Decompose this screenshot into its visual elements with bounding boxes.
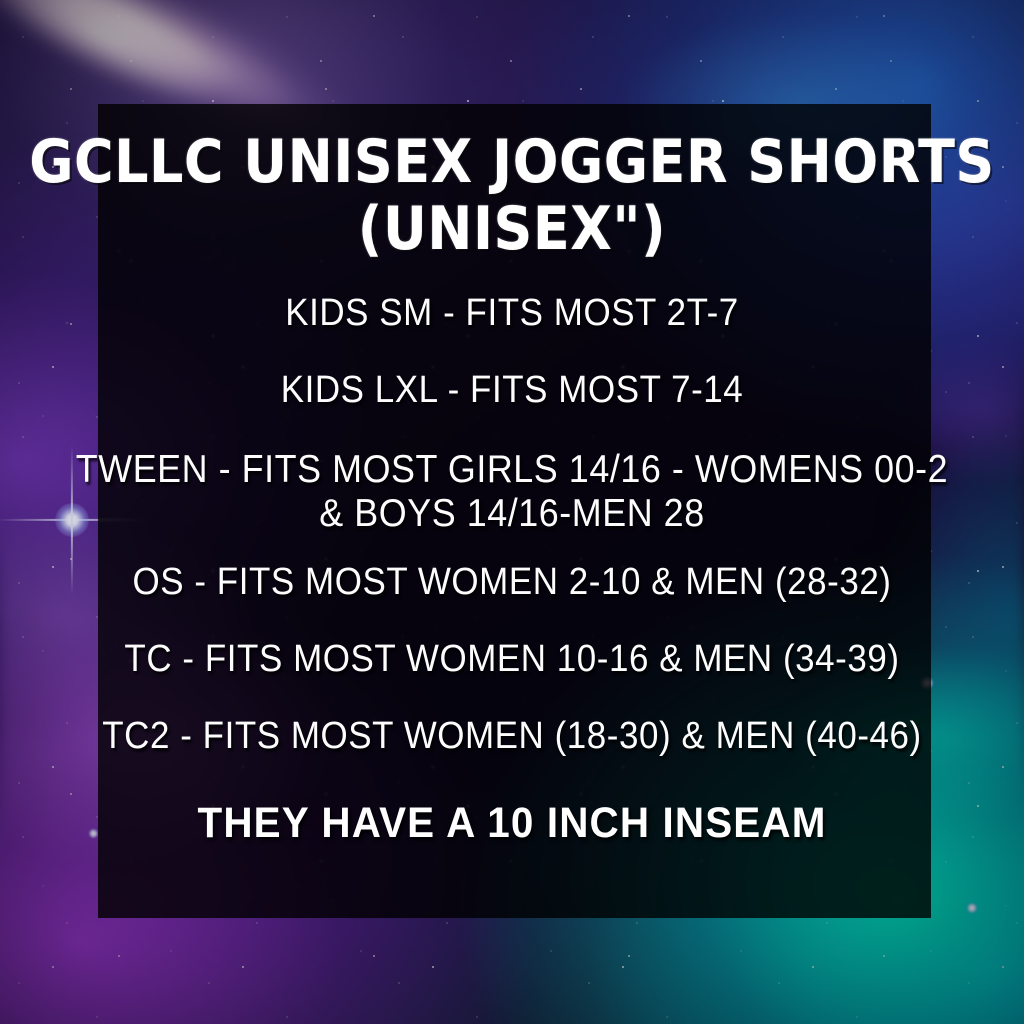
poster-content: GCLLC UNISEX JOGGER SHORTS (UNISEX") KID… [0,0,1024,1024]
size-line-kids-lxl: KIDS LXL - FITS MOST 7-14 [66,371,958,410]
page-title: GCLLC UNISEX JOGGER SHORTS [22,132,1002,193]
size-line-kids-sm: KIDS SM - FITS MOST 2T-7 [66,294,958,333]
inseam-note: THEY HAVE A 10 INCH INSEAM [56,799,968,848]
size-line-os: OS - FITS MOST WOMEN 2-10 & MEN (28-32) [66,563,958,602]
size-line-tween: TWEEN - FITS MOST GIRLS 14/16 - WOMENS 0… [66,448,958,535]
poster-canvas: GCLLC UNISEX JOGGER SHORTS (UNISEX") KID… [0,0,1024,1024]
size-line-tc: TC - FITS MOST WOMEN 10-16 & MEN (34-39) [66,640,958,679]
size-line-tc2: TC2 - FITS MOST WOMEN (18-30) & MEN (40-… [66,717,958,756]
page-subtitle: (UNISEX") [22,199,1002,260]
